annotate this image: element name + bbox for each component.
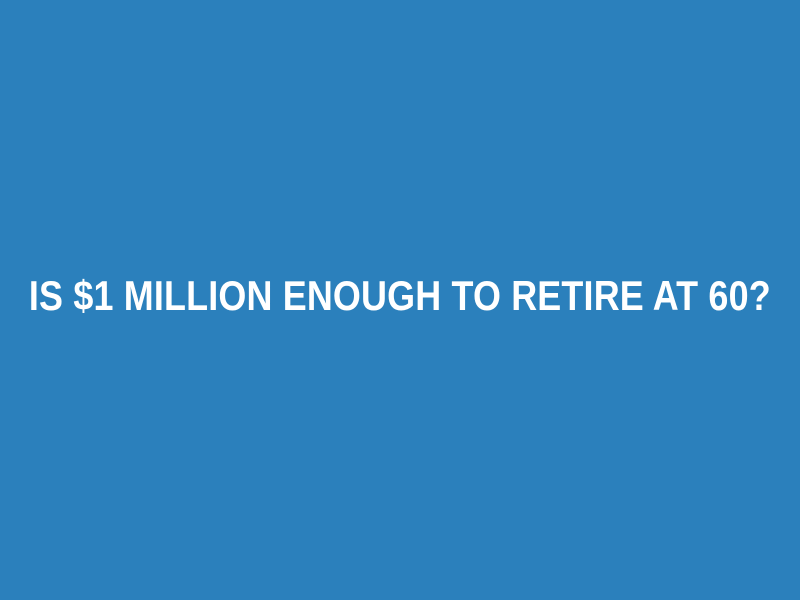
title-card: IS $1 MILLION ENOUGH TO RETIRE AT 60? [0,0,800,600]
page-title: IS $1 MILLION ENOUGH TO RETIRE AT 60? [29,281,771,311]
headline-container: IS $1 MILLION ENOUGH TO RETIRE AT 60? [0,281,800,311]
